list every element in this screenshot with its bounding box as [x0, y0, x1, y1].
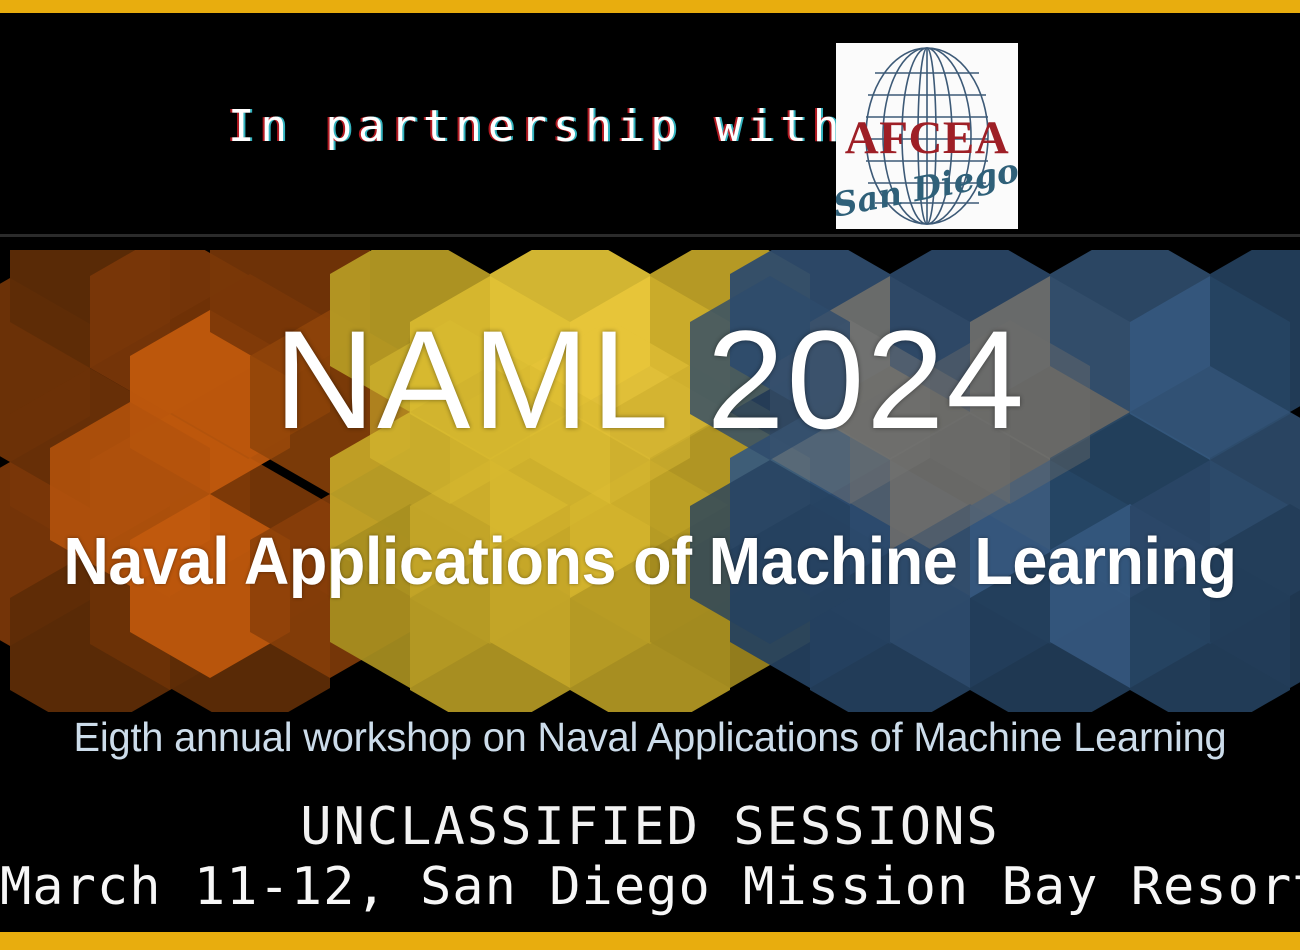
- afcea-san-diego-logo: AFCEA San Diego: [836, 43, 1018, 229]
- naml-2024-title-slide: In partnership with:: [0, 0, 1300, 950]
- workshop-tagline: Eigth annual workshop on Naval Applicati…: [20, 714, 1281, 761]
- footer-block: UNCLASSIFIED SESSIONS March 11-12, San D…: [0, 800, 1300, 920]
- event-title: NAML 2024: [0, 310, 1300, 450]
- top-accent-bar: [0, 0, 1300, 13]
- event-subtitle: Naval Applications of Machine Learning: [39, 528, 1261, 595]
- date-and-venue-label: March 11-12, San Diego Mission Bay Resor…: [0, 855, 1300, 920]
- header-divider: [0, 234, 1300, 237]
- bottom-accent-bar: [0, 932, 1300, 950]
- partnership-header: In partnership with:: [0, 13, 1300, 236]
- partnership-label: In partnership with:: [228, 101, 878, 152]
- classification-label: UNCLASSIFIED SESSIONS: [0, 800, 1300, 855]
